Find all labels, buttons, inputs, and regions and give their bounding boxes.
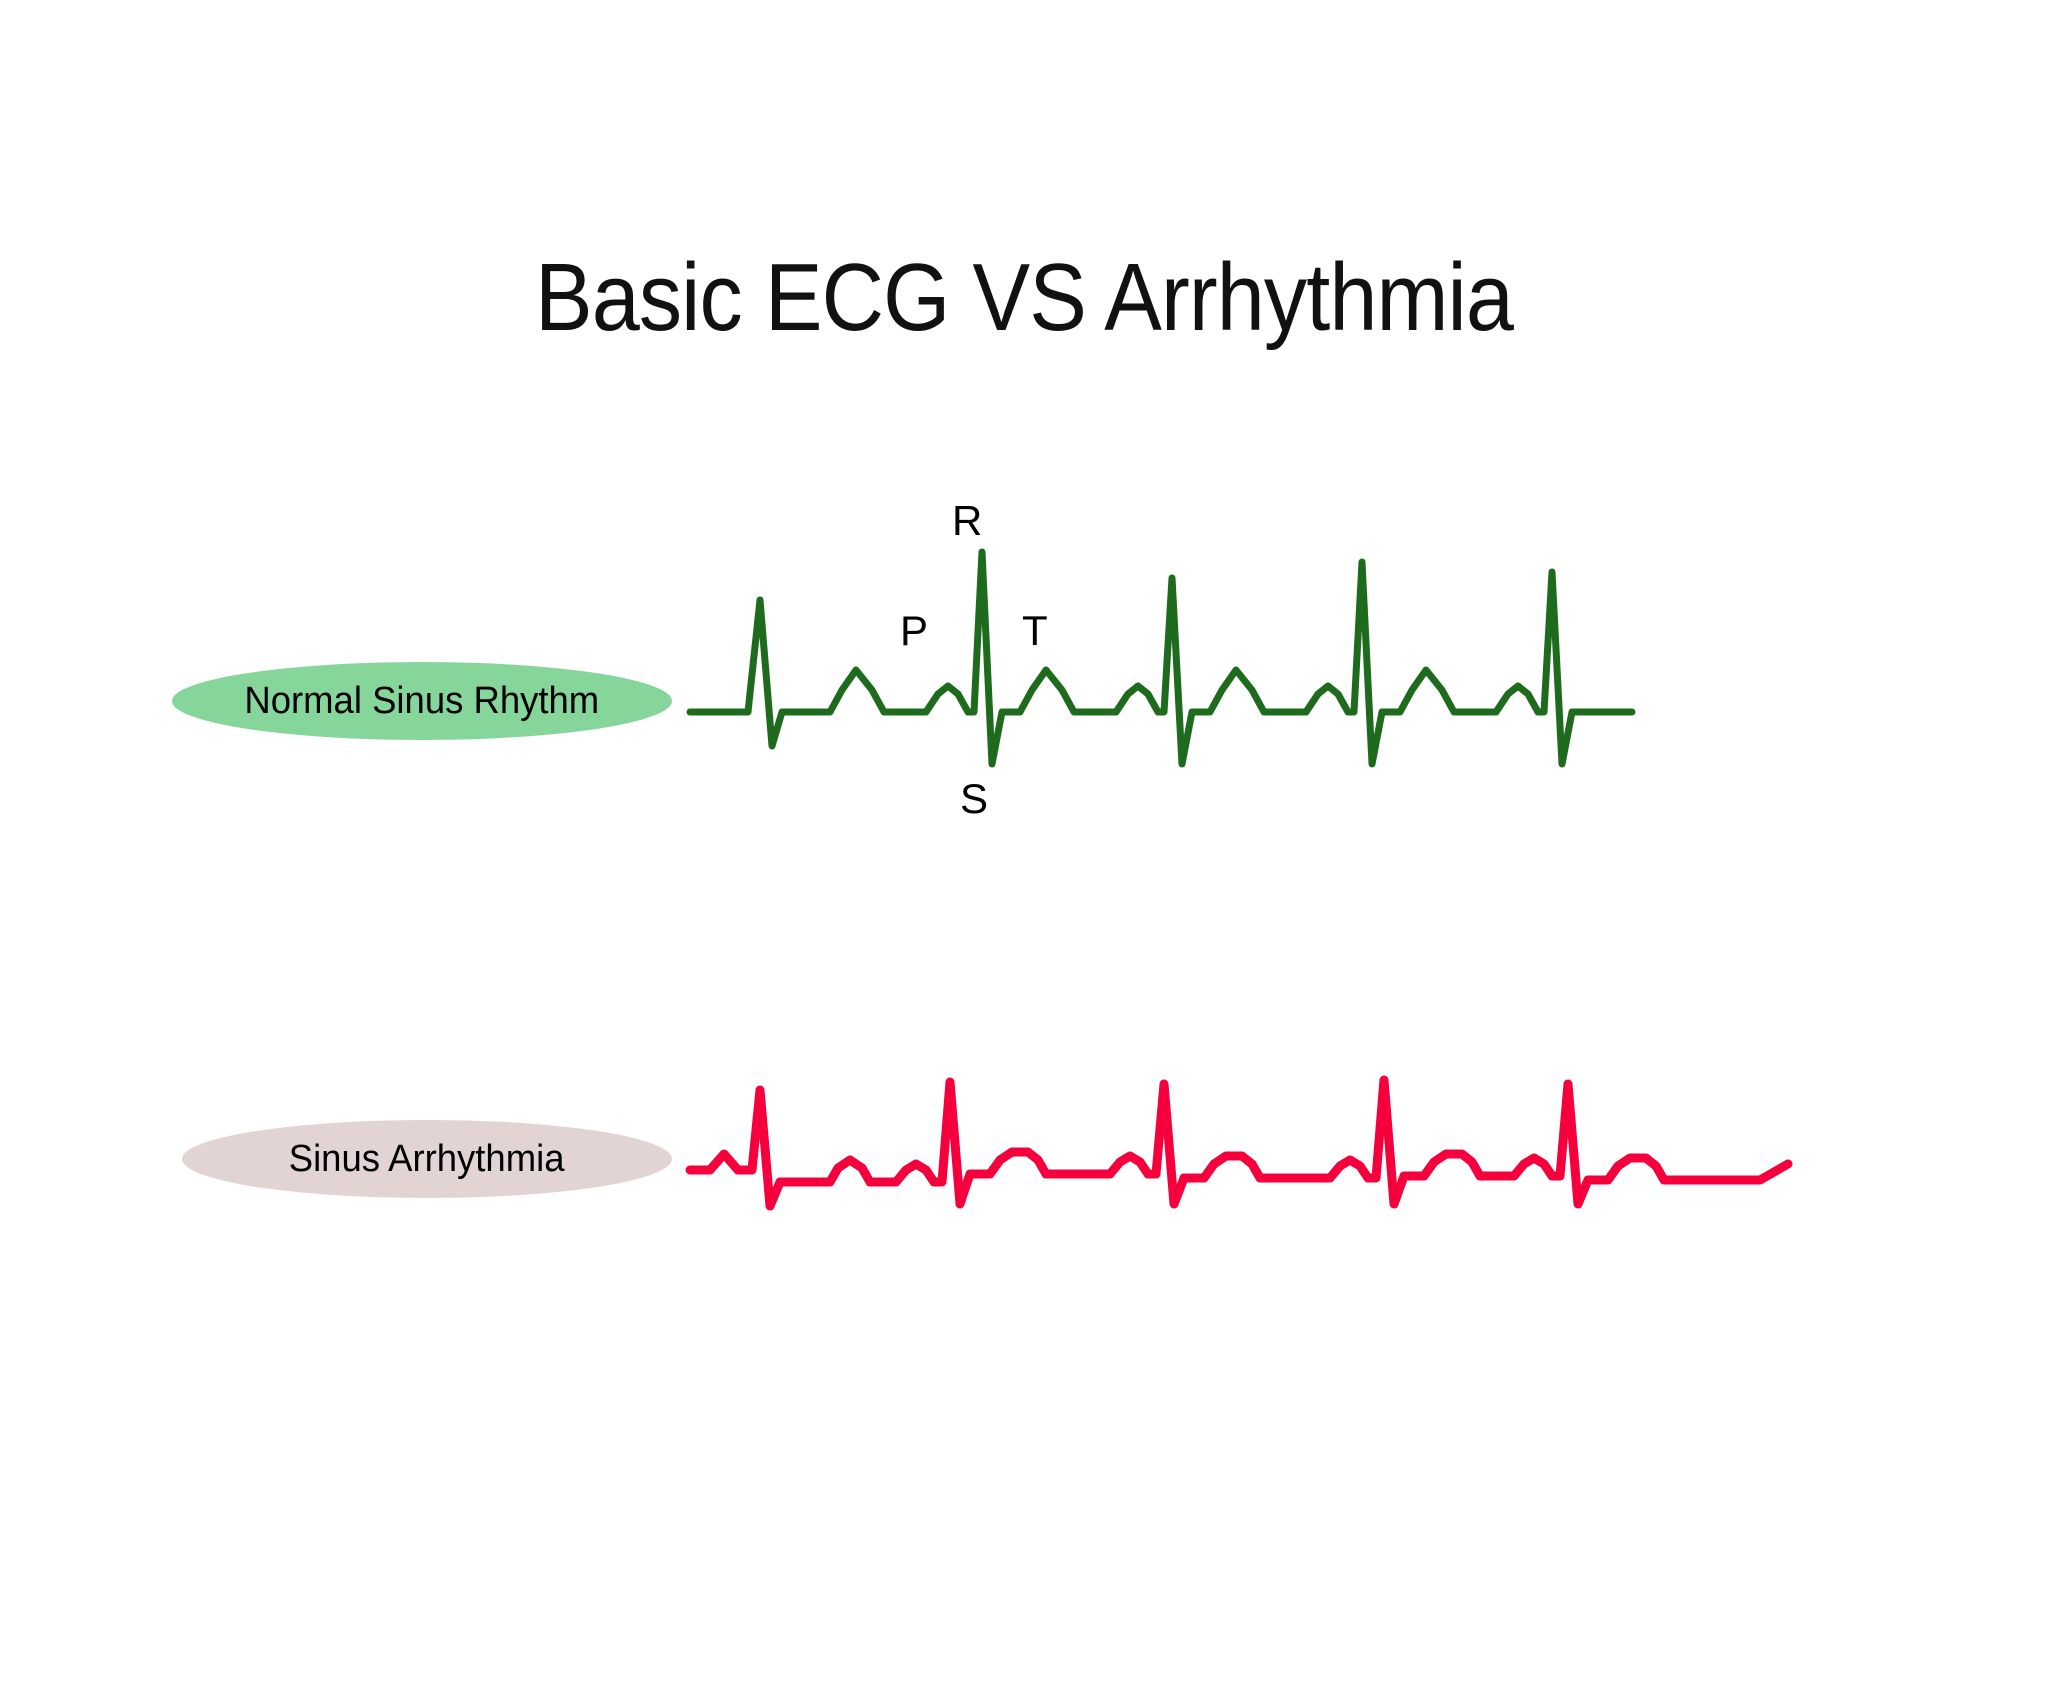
legend-pill-label: Normal Sinus Rhythm xyxy=(245,680,600,723)
wave-annotation-s: S xyxy=(960,778,988,820)
ecg-waveform-svg-arrhythmia xyxy=(690,1020,1650,1350)
wave-annotation-r: R xyxy=(952,500,982,542)
rhythm-row-arrhythmia: Sinus Arrhythmia xyxy=(0,1020,2048,1350)
legend-pill-normal-sinus-rhythm: Normal Sinus Rhythm xyxy=(172,662,672,740)
page-title: Basic ECG VS Arrhythmia xyxy=(102,250,1945,346)
ecg-trace-normal-sinus-rhythm xyxy=(690,550,1650,880)
legend-pill-label: Sinus Arrhythmia xyxy=(289,1138,565,1181)
wave-annotation-p: P xyxy=(900,610,928,652)
ecg-waveform-path-arrhythmia xyxy=(690,1080,1788,1206)
ecg-trace-sinus-arrhythmia xyxy=(690,1020,1650,1350)
ecg-waveform-path-normal xyxy=(690,552,1632,764)
legend-pill-sinus-arrhythmia: Sinus Arrhythmia xyxy=(182,1120,672,1198)
ecg-waveform-svg-normal xyxy=(690,550,1650,880)
rhythm-row-normal: Normal Sinus Rhythm xyxy=(0,550,2048,880)
wave-annotation-t: T xyxy=(1022,610,1048,652)
